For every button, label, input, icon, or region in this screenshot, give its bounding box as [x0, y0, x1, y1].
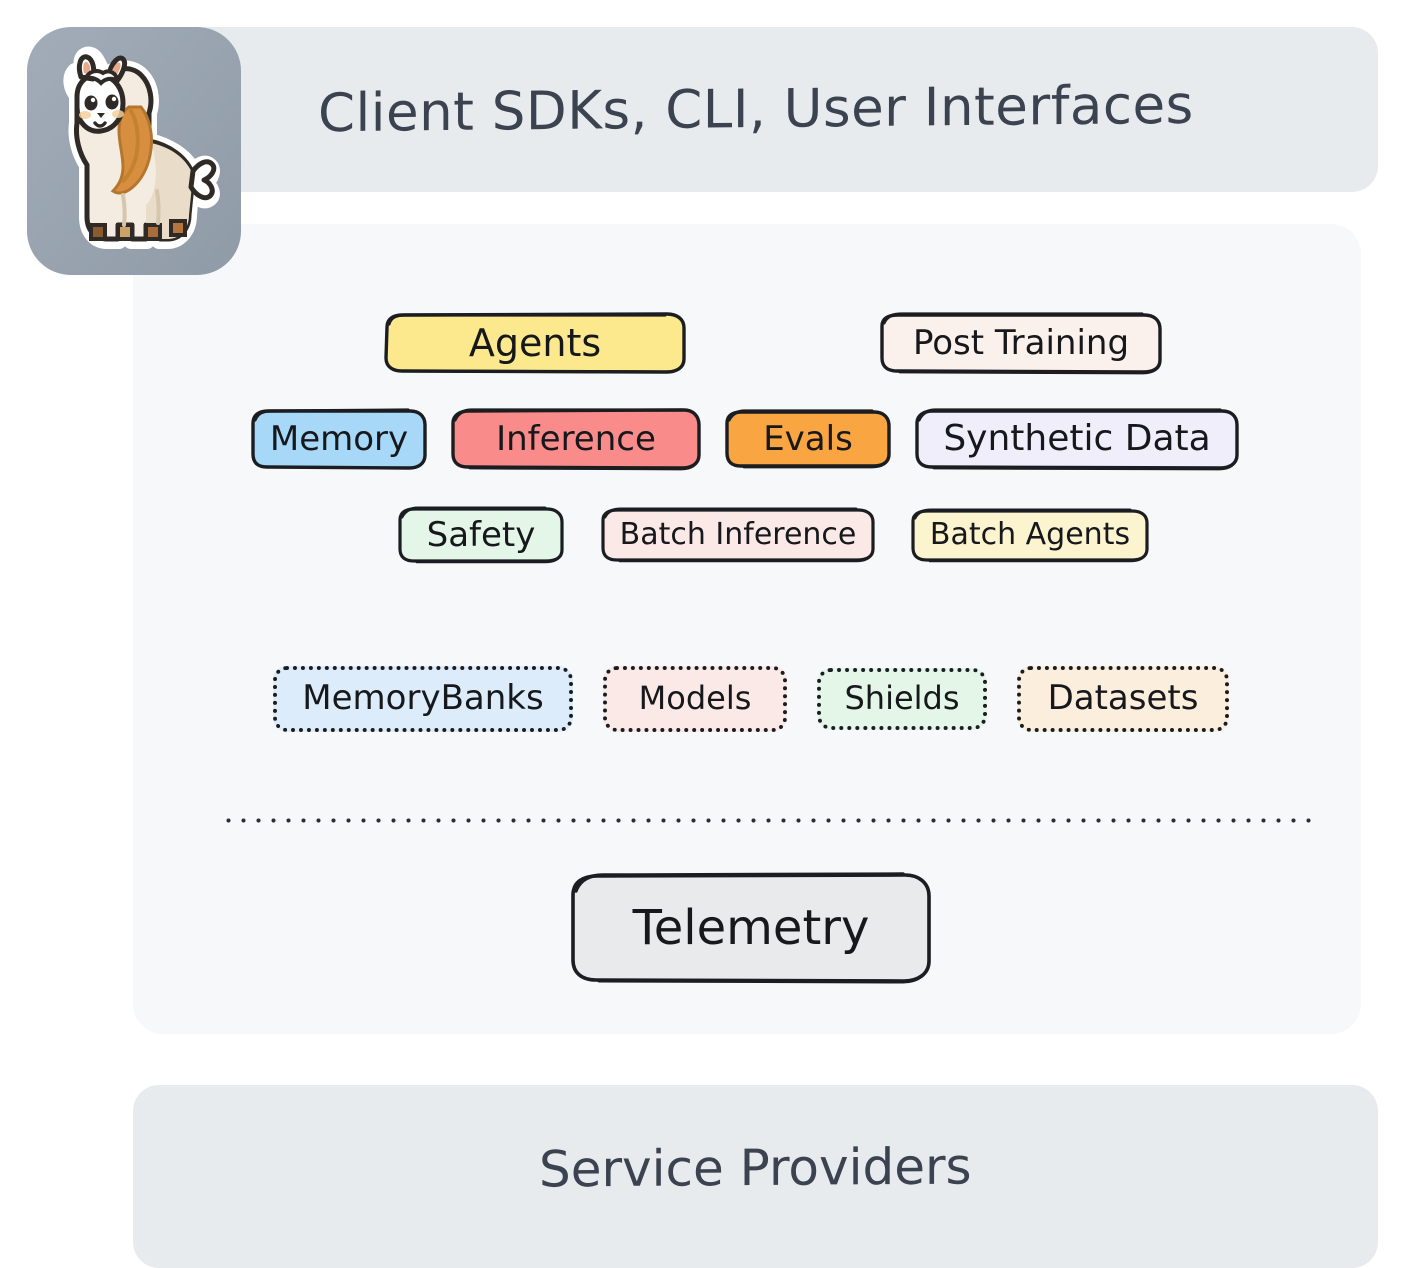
telemetry-box[interactable]: Telemetry: [567, 869, 935, 987]
api-box-safety[interactable]: Safety: [395, 506, 567, 564]
agents-label: Agents: [469, 324, 601, 362]
telemetry-label: Telemetry: [633, 904, 870, 952]
models-label: Models: [639, 682, 752, 714]
post-training-label: Post Training: [913, 326, 1129, 360]
header-title: Client SDKs, CLI, User Interfaces: [318, 75, 1194, 144]
api-box-memory[interactable]: Memory: [248, 408, 430, 470]
llama-icon: [39, 45, 229, 257]
api-row-3: Safety Batch Inference: [395, 506, 1151, 564]
telemetry-wrapper: Telemetry: [567, 869, 935, 987]
resource-box-datasets[interactable]: Datasets: [1017, 666, 1229, 732]
api-row-2: Memory Inference: [248, 408, 1242, 470]
api-box-synthetic-data[interactable]: Synthetic Data: [912, 408, 1242, 470]
service-providers-bar: Service Providers: [133, 1085, 1378, 1268]
memorybanks-label: MemoryBanks: [302, 681, 543, 715]
safety-label: Safety: [427, 518, 536, 552]
batch-agents-label: Batch Agents: [930, 520, 1130, 550]
batch-inference-label: Batch Inference: [620, 520, 857, 550]
section-divider: [221, 818, 1321, 823]
memory-label: Memory: [270, 422, 408, 456]
llama-stack-panel: Agents Post Training: [133, 224, 1361, 1034]
api-box-evals[interactable]: Evals: [722, 409, 894, 469]
shields-label: Shields: [844, 682, 959, 714]
api-row-1: Agents Post Training: [381, 312, 1165, 374]
footer-title: Service Providers: [539, 1137, 972, 1198]
evals-label: Evals: [763, 422, 853, 456]
api-box-batch-inference[interactable]: Batch Inference: [599, 507, 877, 563]
llama-logo-tile: [27, 27, 241, 275]
diagram-canvas: Client SDKs, CLI, User Interfaces: [0, 0, 1410, 1268]
api-box-agents[interactable]: Agents: [381, 312, 689, 374]
client-interfaces-bar: Client SDKs, CLI, User Interfaces: [133, 27, 1378, 192]
resource-row: MemoryBanks Models Shields Datasets: [273, 666, 1229, 732]
api-box-batch-agents[interactable]: Batch Agents: [909, 508, 1151, 562]
api-box-inference[interactable]: Inference: [448, 408, 704, 470]
api-box-post-training[interactable]: Post Training: [877, 312, 1165, 374]
datasets-label: Datasets: [1048, 681, 1199, 715]
resource-box-shields[interactable]: Shields: [817, 668, 987, 730]
resource-box-models[interactable]: Models: [603, 666, 787, 732]
resource-box-memorybanks[interactable]: MemoryBanks: [273, 666, 573, 732]
inference-label: Inference: [496, 422, 656, 456]
synthetic-data-label: Synthetic Data: [943, 421, 1210, 457]
